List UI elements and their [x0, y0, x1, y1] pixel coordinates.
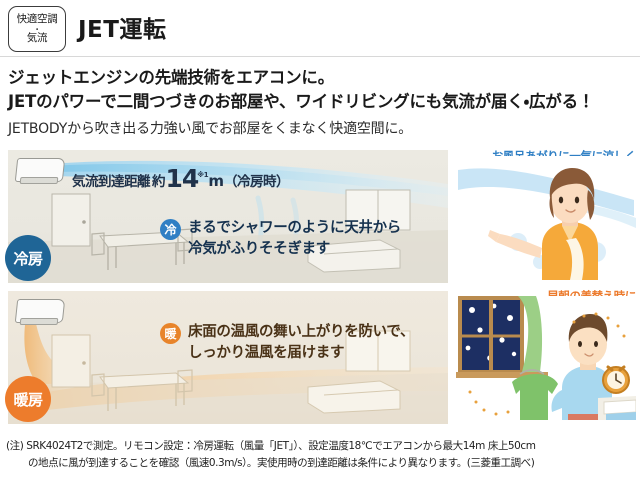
airflow-distance-approx: 約 [152, 174, 166, 190]
category-badge: 快適空調 ・ 気流 [8, 6, 66, 52]
category-badge-line1: 快適空調 [17, 14, 58, 26]
lead-line-2: JETのパワーで二間つづきのお部屋や、ワイドリビングにも気流が届く・広がる！ [8, 90, 638, 114]
lead-copy: ジェットエンジンの先端技術をエアコンに。 JETのパワーで二間つづきのお部屋や、… [8, 66, 638, 140]
cooling-message: 冷 まるでシャワーのように天井から 冷気がふりそそぎます [160, 218, 401, 260]
page-title: JET運転 [78, 10, 166, 44]
category-badge-line2: 気流 [27, 33, 47, 45]
cooling-mode-chip: 冷 [160, 219, 181, 240]
mode-badge-heating: 暖房 [5, 376, 51, 422]
indoor-unit-heating [16, 299, 64, 325]
airflow-distance-caption: 気流到達距離約14※1m（冷房時） [72, 164, 289, 193]
photo-cooling-scene [456, 156, 636, 280]
footnote: (注) SRK4024T2で測定。リモコン設定：冷房運転（風量「JET」）、設定… [6, 438, 638, 472]
airflow-distance-footnote-mark: ※1 [197, 171, 208, 179]
heating-message-line-1: 床面の温風の舞い上がりを防いで、 [188, 322, 414, 343]
header-divider [0, 56, 640, 57]
heating-message: 暖 床面の温風の舞い上がりを防いで、 しっかり温風を届けます [160, 322, 414, 364]
indoor-unit-vent [20, 177, 59, 184]
footnote-line-1: (注) SRK4024T2で測定。リモコン設定：冷房運転（風量「JET」）、設定… [6, 438, 638, 455]
airflow-distance-value: 14 [166, 164, 199, 193]
heating-message-line-2: しっかり温風を届けます [188, 343, 414, 364]
cooling-message-line-1: まるでシャワーのように天井から [188, 218, 401, 239]
airflow-distance-label: 気流到達距離 [72, 174, 150, 190]
cooling-message-line-2: 冷気がふりそそぎます [188, 239, 401, 260]
lead-line-1: ジェットエンジンの先端技術をエアコンに。 [8, 66, 638, 90]
cooling-message-text: まるでシャワーのように天井から 冷気がふりそそぎます [188, 218, 401, 260]
towel-woman-illustration [456, 156, 636, 280]
mode-badge-cooling: 冷房 [5, 235, 51, 281]
footnote-line-2: の地点に風が到達することを確認（風速0.3m/s）。実使用時の到達距離は条件によ… [6, 455, 638, 472]
product-feature-page: 快適空調 ・ 気流 JET運転 ジェットエンジンの先端技術をエアコンに。 JET… [0, 0, 640, 480]
heating-mode-chip: 暖 [160, 323, 181, 344]
heating-message-text: 床面の温風の舞い上がりを防いで、 しっかり温風を届けます [188, 322, 414, 364]
airflow-distance-condition: （冷房時） [224, 174, 289, 190]
indoor-unit-vent [20, 318, 59, 325]
boy-dressing-illustration [456, 296, 636, 420]
page-header: 快適空調 ・ 気流 JET運転 [0, 0, 640, 56]
airflow-distance-unit: m [208, 172, 224, 190]
lead-line-3: JETBODYから吹き出る力強い風でお部屋をくまなく快適空間に。 [8, 118, 638, 140]
indoor-unit-cooling [16, 158, 64, 184]
photo-heating-scene [456, 296, 636, 420]
